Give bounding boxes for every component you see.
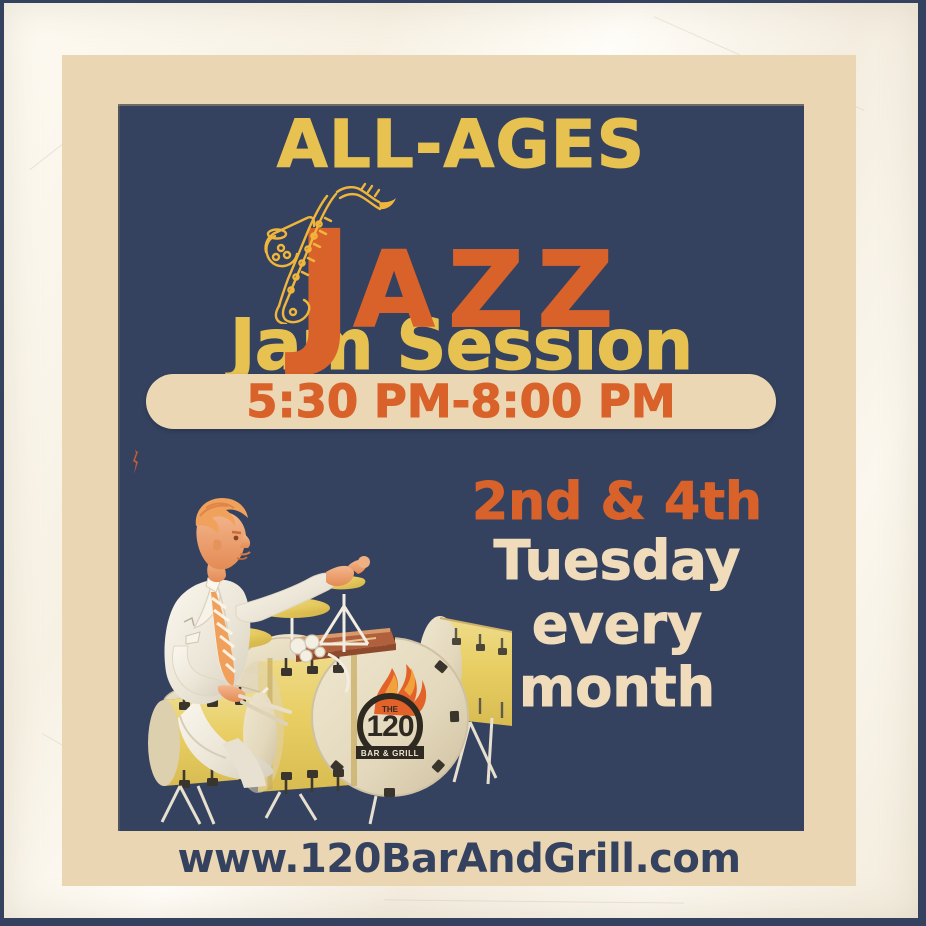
website-band[interactable]: www.120BarAndGrill.com [62,831,856,886]
headline-jazz-row: JAZZ [118,174,804,324]
music-note-mark-icon [131,449,141,475]
logo-number-text: 120 [366,710,413,743]
paper-crease [384,899,684,903]
headline-jazz-rest: AZZ [354,229,627,351]
headline-jazz-initial: J [295,198,354,382]
time-banner: 5:30 PM-8:00 PM [146,374,776,429]
logo-bar-grill-text: BAR & GRILL [361,749,419,758]
drummer-illustration: THE 120 BAR & GRILL [140,486,540,826]
time-range-text: 5:30 PM-8:00 PM [246,379,675,424]
headline-block: ALL-AGES JAZZ [118,112,804,380]
website-url-text[interactable]: www.120BarAndGrill.com [177,839,740,879]
headline-jazz-text: JAZZ [118,174,804,372]
headline-all-ages: ALL-AGES [118,112,804,178]
poster-canvas: ALL-AGES JAZZ [0,0,926,926]
poster-panel: ALL-AGES JAZZ [118,104,804,831]
